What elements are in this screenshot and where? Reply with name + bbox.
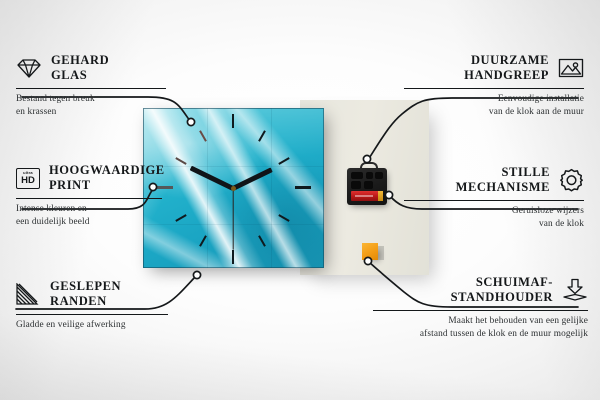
feature-description: Intense kleuren en een duidelijk beeld xyxy=(16,203,196,229)
spacer-shadow xyxy=(378,246,384,260)
feature-title-line1: GESLEPEN xyxy=(50,279,121,294)
feature-title-line2: GLAS xyxy=(51,68,109,83)
gear-icon xyxy=(559,168,584,192)
feature-title: HOOGWAARDIGE PRINT xyxy=(49,163,165,194)
feature-title-line2: MECHANISME xyxy=(456,180,550,195)
feature-title-line1: DUURZAME xyxy=(464,53,549,68)
feature-title-line1: GEHARD xyxy=(51,53,109,68)
feature-header: DUURZAME HANDGREEP xyxy=(404,53,584,84)
feature-desc-line2: van de klok aan de muur xyxy=(404,106,584,119)
feature-title: SCHUIMAF- STANDHOUDER xyxy=(451,275,553,306)
wall-spacer xyxy=(362,243,378,260)
feature-header: STILLE MECHANISME xyxy=(404,165,584,196)
diamond-icon xyxy=(16,58,42,79)
mechanism-slot xyxy=(351,181,361,189)
feature-desc-line2: van de klok xyxy=(404,218,584,231)
feature-divider xyxy=(16,198,162,199)
feature-divider xyxy=(16,314,168,315)
connector-dot-geslepen-randen xyxy=(193,271,200,278)
feature-desc-line1: Intense kleuren en xyxy=(16,203,196,216)
feature-desc-line2: afstand tussen de klok en de muur mogeli… xyxy=(373,328,588,341)
mechanism-battery xyxy=(351,191,383,201)
ultra-hd-icon: ultra HD xyxy=(16,168,40,189)
clock-mechanism xyxy=(347,168,387,205)
mechanism-slot xyxy=(351,172,363,179)
feature-title-line1: STILLE xyxy=(456,165,550,180)
feature-desc-line1: Bestand tegen breuk xyxy=(16,93,186,106)
feature-title-line1: HOOGWAARDIGE xyxy=(49,163,165,178)
spacer-arrow-icon xyxy=(562,278,588,302)
feature-divider xyxy=(404,88,584,89)
mechanism-slot xyxy=(366,172,373,179)
feature-title: STILLE MECHANISME xyxy=(456,165,550,196)
feature-description: Eenvoudige installatie van de klok aan d… xyxy=(404,93,584,119)
mechanism-slot xyxy=(375,172,383,179)
feature-title-line2: HANDGREEP xyxy=(464,68,549,83)
feature-divider xyxy=(404,200,584,201)
feature-header: SCHUIMAF- STANDHOUDER xyxy=(373,275,588,306)
feature-schuimafstandhouder: SCHUIMAF- STANDHOUDER Maakt het behouden… xyxy=(373,275,588,341)
ultra-hd-icon-main-label: HD xyxy=(21,176,35,186)
feature-description: Gladde en veilige afwerking xyxy=(16,319,196,332)
feature-description: Bestand tegen breuk en krassen xyxy=(16,93,186,119)
feature-header: ultra HD HOOGWAARDIGE PRINT xyxy=(16,163,196,194)
feature-title: DUURZAME HANDGREEP xyxy=(464,53,549,84)
feature-description: Maakt het behouden van een gelijke afsta… xyxy=(373,315,588,341)
mechanism-slot xyxy=(364,181,373,189)
feature-title: GESLEPEN RANDEN xyxy=(50,279,121,310)
feature-description: Geruisloze wijzers van de klok xyxy=(404,205,584,231)
feature-title-line1: SCHUIMAF- xyxy=(451,275,553,290)
battery-label-band xyxy=(355,195,373,197)
feature-title-line2: PRINT xyxy=(49,178,165,193)
feature-title-line2: STANDHOUDER xyxy=(451,290,553,305)
feature-divider xyxy=(373,310,588,311)
feature-desc-line1: Geruisloze wijzers xyxy=(404,205,584,218)
feature-header: GESLEPEN RANDEN xyxy=(16,279,196,310)
feature-geslepen-randen: GESLEPEN RANDEN Gladde en veilige afwerk… xyxy=(16,279,196,332)
feature-duurzame-handgreep: DUURZAME HANDGREEP Eenvoudige installati… xyxy=(404,53,584,119)
feature-desc-line1: Maakt het behouden van een gelijke xyxy=(373,315,588,328)
feature-gehard-glas: GEHARD GLAS Bestand tegen breuk en krass… xyxy=(16,53,186,119)
battery-positive-tip xyxy=(378,191,383,201)
feature-title: GEHARD GLAS xyxy=(51,53,109,84)
beveled-edge-icon xyxy=(16,283,41,305)
feature-desc-line1: Eenvoudige installatie xyxy=(404,93,584,106)
feature-hoogwaardige-print: ultra HD HOOGWAARDIGE PRINT Intense kleu… xyxy=(16,163,196,229)
feature-stille-mechanisme: STILLE MECHANISME Geruisloze wijzers van… xyxy=(404,165,584,231)
picture-frame-icon xyxy=(558,57,584,79)
feature-desc-line2: een duidelijk beeld xyxy=(16,216,196,229)
feature-desc-line1: Gladde en veilige afwerking xyxy=(16,319,196,332)
infographic-canvas: GEHARD GLAS Bestand tegen breuk en krass… xyxy=(0,0,600,400)
feature-header: GEHARD GLAS xyxy=(16,53,186,84)
feature-divider xyxy=(16,88,166,89)
feature-desc-line2: en krassen xyxy=(16,106,186,119)
feature-title-line2: RANDEN xyxy=(50,294,121,309)
